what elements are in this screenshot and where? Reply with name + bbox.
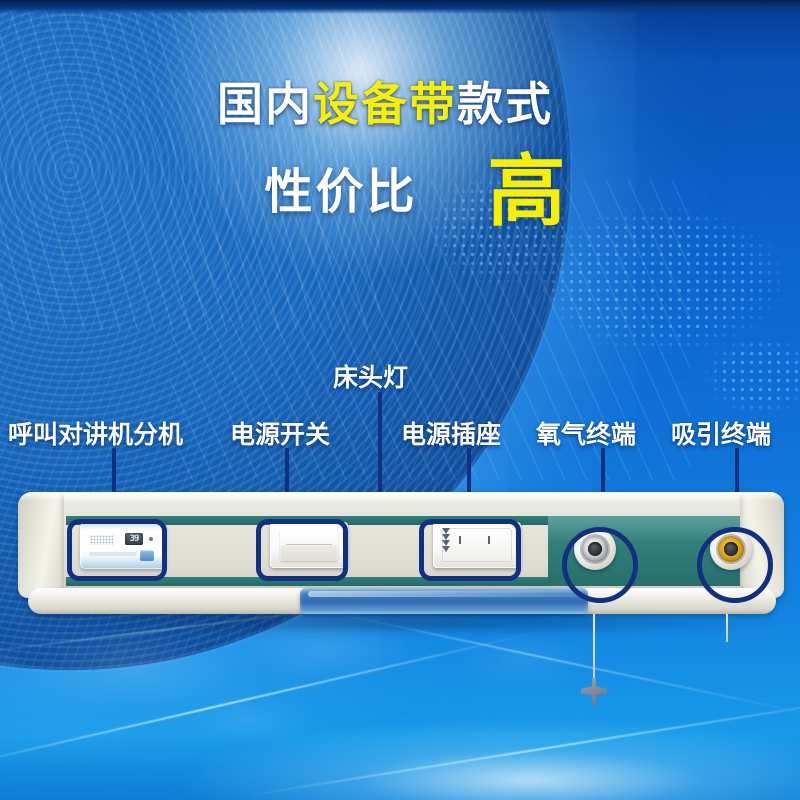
highlight-circle-oxygen bbox=[562, 527, 638, 603]
headline-line-2: 性价比 高 bbox=[0, 150, 800, 222]
label-power-socket: 电源插座 bbox=[401, 415, 501, 451]
bed-lamp-light-cover bbox=[300, 588, 588, 614]
label-bed-lamp: 床头灯 bbox=[333, 358, 408, 394]
headline-line-1: 国内设备带款式 bbox=[0, 80, 800, 128]
highlight-box-power-switch bbox=[256, 519, 348, 581]
top-dark-band bbox=[0, 0, 800, 14]
highlight-circle-suction bbox=[697, 527, 773, 603]
highlight-box-intercom bbox=[67, 519, 167, 581]
headline-value-ratio: 性价比 bbox=[264, 152, 417, 222]
poster-canvas: 国内设备带款式 性价比 高 呼叫对讲机分机 电源开关 床头灯 电源插座 氧气终端… bbox=[0, 0, 800, 800]
headline-segment-domestic: 国内 bbox=[217, 78, 313, 130]
label-oxygen: 氧气终端 bbox=[536, 415, 636, 451]
headline-segment-equipment-belt: 设备带 bbox=[313, 78, 457, 130]
label-power-switch: 电源开关 bbox=[230, 415, 330, 451]
label-suction: 吸引终端 bbox=[671, 415, 771, 451]
panel-shadow bbox=[24, 612, 778, 634]
label-intercom: 呼叫对讲机分机 bbox=[8, 415, 183, 451]
bottom-light-glow bbox=[180, 720, 800, 800]
highlight-box-power-socket bbox=[419, 519, 521, 581]
pull-cord-suction[interactable] bbox=[726, 614, 728, 642]
headline-high: 高 bbox=[488, 156, 566, 228]
panel-end-cap-left bbox=[18, 492, 64, 598]
headline-block: 国内设备带款式 性价比 高 bbox=[0, 80, 800, 222]
headline-segment-style: 款式 bbox=[457, 78, 553, 130]
